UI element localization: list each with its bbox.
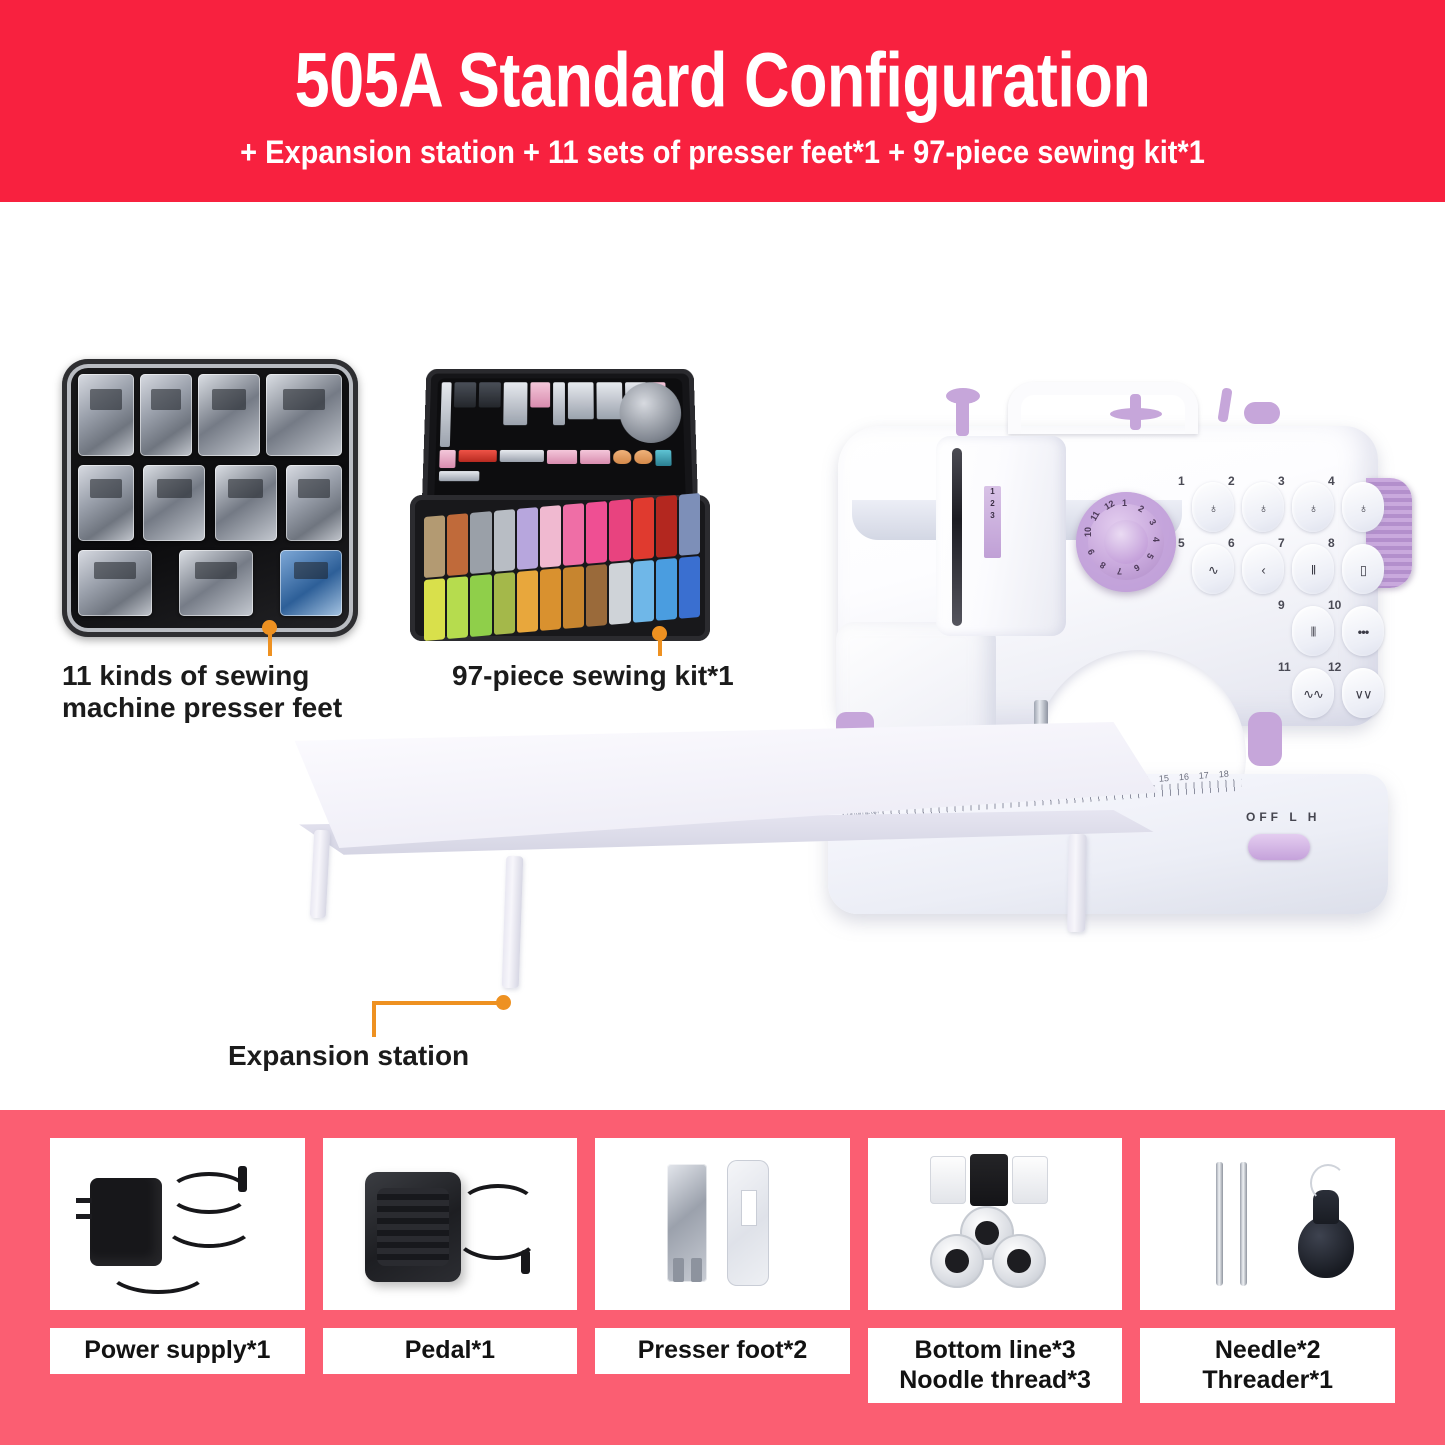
dial-number: 12 — [1103, 498, 1117, 512]
page-subtitle: + Expansion station + 11 sets of presser… — [240, 137, 1205, 169]
thread-spool-column — [679, 493, 700, 619]
stitch-number: 10 — [1328, 598, 1341, 612]
dial-number: 1 — [1122, 498, 1127, 508]
callout-line-expansion-v — [372, 1001, 376, 1037]
stitch-number: 9 — [1278, 598, 1285, 612]
presser-foot-item — [78, 550, 152, 616]
stitch-button[interactable]: ▯ — [1342, 544, 1384, 594]
stitch-number: 1 — [1178, 474, 1185, 488]
kit-tool — [500, 450, 544, 462]
callout-line-expansion-h — [372, 1001, 500, 1005]
thread-spool — [517, 507, 538, 570]
expansion-station-leg-left — [310, 830, 331, 919]
kit-tool — [503, 382, 527, 425]
ruler-number: 16 — [1179, 772, 1190, 783]
ruler-number: 17 — [1198, 770, 1209, 781]
bobbin-hub — [945, 1249, 969, 1273]
sewing-kit-base — [410, 495, 710, 641]
presser-foot-item — [78, 374, 134, 456]
stitch-number: 4 — [1328, 474, 1335, 488]
thread-spool — [517, 570, 538, 633]
bobbin-thread-icon — [868, 1138, 1123, 1310]
presser-feet-row — [78, 550, 342, 616]
thread-spool — [586, 564, 607, 627]
stitch-button[interactable]: ♁ — [1292, 482, 1334, 532]
tension-scale-num: 3 — [984, 510, 1001, 522]
thread-spool — [633, 560, 654, 623]
kit-tool — [440, 382, 452, 447]
accessory-label: Presser foot*2 — [595, 1328, 850, 1374]
thread-spool-column — [517, 507, 538, 633]
stitch-button[interactable]: ‹ — [1242, 544, 1284, 594]
stitch-button[interactable]: ••• — [1342, 606, 1384, 656]
stitch-button[interactable]: ∿ — [1192, 544, 1234, 594]
stitch-button[interactable]: ∨∨ — [1342, 668, 1384, 718]
expansion-station-leg-right — [1067, 834, 1087, 932]
thread-spool — [609, 499, 630, 562]
kit-tool — [454, 382, 476, 407]
stitch-glyph: ∿ — [1208, 564, 1218, 577]
stitch-glyph: ♁ — [1209, 502, 1218, 515]
stitch-glyph: ∨∨ — [1354, 688, 1371, 701]
dial-number: 10 — [1083, 527, 1093, 537]
kit-tool — [553, 382, 565, 425]
kit-tool — [634, 450, 652, 464]
needle-threader-icon — [1140, 1138, 1395, 1310]
expansion-station — [268, 722, 1158, 922]
pedal-body — [365, 1172, 461, 1282]
thread-spool-column — [633, 497, 654, 623]
stitch-glyph: ♁ — [1359, 502, 1368, 515]
bobbin — [930, 1234, 984, 1288]
accessory-tile-power-supply[interactable]: Power supply*1 — [50, 1138, 305, 1445]
page-title: 505A Standard Configuration — [295, 43, 1151, 120]
stitch-button[interactable]: ♁ — [1342, 482, 1384, 532]
threader-wire-loop — [1310, 1164, 1346, 1202]
stitch-number: 11 — [1278, 660, 1291, 674]
kit-tool — [580, 450, 610, 464]
foot-pedal-icon — [323, 1138, 578, 1310]
thread-spool — [679, 493, 700, 556]
tension-housing: 1 2 3 — [936, 436, 1066, 636]
accessory-label: Pedal*1 — [323, 1328, 578, 1374]
stitch-glyph: ♁ — [1309, 502, 1318, 515]
thread-spool-column — [447, 513, 468, 639]
presser-foot-item — [215, 465, 277, 541]
accessory-label: Power supply*1 — [50, 1328, 305, 1374]
accessory-tile-bobbin-thread[interactable]: Bottom line*3 Noodle thread*3 — [868, 1138, 1123, 1445]
dial-number: 11 — [1088, 509, 1101, 522]
accessory-tile-pedal[interactable]: Pedal*1 — [323, 1138, 578, 1445]
thread-spool-rows — [424, 493, 700, 641]
thread-guide-slot — [952, 448, 962, 626]
thread-spool — [656, 558, 677, 621]
presser-feet-grid — [78, 374, 342, 622]
accessory-tile-presser-foot[interactable]: Presser foot*2 — [595, 1138, 850, 1445]
dial-number: 2 — [1137, 503, 1146, 514]
bobbin-hub — [1007, 1249, 1031, 1273]
stitch-button[interactable]: ⦀ — [1292, 606, 1334, 656]
presser-feet-row — [78, 465, 342, 541]
kit-tool — [458, 450, 496, 462]
kit-tool — [547, 450, 577, 464]
presser-feet-row — [78, 374, 342, 456]
presser-foot-item — [179, 550, 253, 616]
stitch-button[interactable]: ♁ — [1242, 482, 1284, 532]
thread-spool-column — [540, 505, 561, 631]
caption-expansion-station: Expansion station — [228, 1040, 469, 1072]
presser-foot-icon — [595, 1138, 850, 1310]
thread-spool-white — [930, 1156, 966, 1204]
power-adapter-icon — [50, 1138, 305, 1310]
kit-tool — [439, 471, 480, 481]
accessory-label: Needle*2 Threader*1 — [1140, 1328, 1395, 1403]
product-infographic: 505A Standard Configuration + Expansion … — [0, 0, 1445, 1445]
presser-foot-item — [280, 550, 342, 616]
stitch-selection-chart: 1♁2♁3♁4♁5∿6‹7‖8▯9⦀10•••11∿∿12∨∨ — [1180, 478, 1380, 698]
stitch-glyph: ∿∿ — [1303, 688, 1323, 701]
thread-spool — [494, 509, 515, 572]
adapter-cord — [106, 1244, 210, 1294]
thread-spool-white — [1012, 1156, 1048, 1204]
stitch-pattern-dial[interactable]: 123456789101112 — [1076, 492, 1176, 592]
presser-foot-item — [266, 374, 342, 456]
adapter-cord — [162, 1196, 256, 1248]
stitch-button[interactable]: ♁ — [1192, 482, 1234, 532]
kit-tool — [568, 382, 594, 419]
thread-spool — [470, 511, 491, 574]
thread-spool — [424, 578, 445, 641]
thread-spool — [540, 568, 561, 631]
dial-number: 6 — [1132, 562, 1141, 573]
bobbin — [992, 1234, 1046, 1288]
thread-spool-column — [586, 501, 607, 627]
thread-spool-column — [656, 495, 677, 621]
stitch-number: 7 — [1278, 536, 1285, 550]
bobbin-winder-pin[interactable] — [1217, 387, 1232, 422]
metal-foot-toe — [673, 1258, 684, 1282]
dial-number: 7 — [1117, 566, 1122, 576]
kit-tool — [439, 450, 456, 468]
sewing-needle — [1240, 1162, 1247, 1286]
product-stage: 11 kinds of sewing machine presser feet — [0, 202, 1445, 1110]
bobbin-hub — [975, 1221, 999, 1245]
pedal-ridges — [377, 1188, 449, 1266]
accessory-tile-needle-threader[interactable]: Needle*2 Threader*1 — [1140, 1138, 1395, 1445]
stitch-glyph: ‖ — [1311, 564, 1315, 577]
tension-scale-num: 1 — [984, 486, 1001, 498]
dial-number: 4 — [1151, 537, 1161, 542]
thread-spool — [656, 495, 677, 558]
stitch-glyph: ▯ — [1360, 564, 1366, 577]
presser-foot-item — [78, 465, 134, 541]
thread-spool — [447, 513, 468, 576]
thread-spool — [563, 503, 584, 566]
stitch-button[interactable]: ‖ — [1292, 544, 1334, 594]
thread-spool — [424, 515, 445, 578]
stitch-number: 5 — [1178, 536, 1185, 550]
stitch-glyph: ⦀ — [1311, 626, 1316, 639]
threader-body — [1298, 1216, 1354, 1278]
presser-foot-item — [140, 374, 192, 456]
carry-handle[interactable] — [1008, 382, 1198, 434]
reverse-lever[interactable] — [1248, 712, 1282, 766]
presser-foot-item — [143, 465, 205, 541]
stitch-glyph: ♁ — [1259, 502, 1268, 515]
thread-spool — [609, 562, 630, 625]
thread-spool — [586, 501, 607, 564]
kit-tool — [613, 450, 631, 464]
thread-spool — [679, 556, 700, 619]
stitch-number: 8 — [1328, 536, 1335, 550]
presser-feet-tray — [62, 359, 358, 637]
thread-spool-column — [494, 509, 515, 635]
accessories-panel: Power supply*1 Pedal*1 — [0, 1110, 1445, 1445]
accessory-label: Bottom line*3 Noodle thread*3 — [868, 1328, 1123, 1403]
sewing-needle — [1216, 1162, 1223, 1286]
dial-number: 8 — [1098, 560, 1107, 571]
kit-tool — [479, 382, 501, 407]
caption-presser-feet: 11 kinds of sewing machine presser feet — [62, 660, 342, 725]
ruler-number: 18 — [1218, 769, 1229, 780]
presser-foot-item — [198, 374, 260, 456]
presser-foot-item — [286, 465, 342, 541]
dial-knob[interactable] — [1104, 520, 1148, 564]
buttonhole-slot — [741, 1190, 757, 1226]
thread-spool — [470, 574, 491, 637]
callout-line-sewing-kit — [658, 634, 662, 656]
spool-disc-center[interactable] — [1110, 408, 1162, 420]
dial-number: 5 — [1145, 552, 1156, 561]
stitch-button[interactable]: ∿∿ — [1292, 668, 1334, 718]
spool-pin-cap-left[interactable] — [946, 388, 980, 404]
thread-spool-column — [563, 503, 584, 629]
expansion-station-leg-center — [502, 856, 524, 989]
dial-number: 3 — [1147, 518, 1158, 527]
thread-spool — [447, 576, 468, 639]
thread-spool-black — [970, 1154, 1008, 1206]
stitch-number: 6 — [1228, 536, 1235, 550]
stitch-glyph: ••• — [1358, 626, 1369, 639]
kit-tool — [530, 382, 550, 407]
caption-sewing-kit: 97-piece sewing kit*1 — [452, 660, 734, 692]
sewing-kit-case — [410, 367, 710, 642]
tension-scale-num: 2 — [984, 498, 1001, 510]
stitch-glyph: ‹ — [1261, 564, 1264, 577]
ruler-number: 15 — [1159, 773, 1170, 784]
caption-presser-feet-line1: 11 kinds of sewing — [62, 660, 342, 692]
dial-number: 9 — [1086, 547, 1097, 556]
speed-switch-label: OFF L H — [1246, 810, 1320, 824]
adapter-dc-plug — [238, 1166, 247, 1192]
thread-spool — [540, 505, 561, 568]
stitch-number: 3 — [1278, 474, 1285, 488]
stitch-number: 12 — [1328, 660, 1341, 674]
caption-presser-feet-line2: machine presser feet — [62, 692, 342, 724]
accessories-grid: Power supply*1 Pedal*1 — [0, 1110, 1445, 1445]
stitch-number: 2 — [1228, 474, 1235, 488]
thread-spool-column — [424, 515, 445, 641]
tension-scale: 1 2 3 — [984, 486, 1001, 558]
thread-spool — [563, 566, 584, 629]
metal-foot-toe — [691, 1258, 702, 1282]
header-banner: 505A Standard Configuration + Expansion … — [0, 0, 1445, 202]
kit-tool — [655, 450, 671, 466]
bobbin-winder-stop[interactable] — [1244, 402, 1280, 424]
thread-spool-column — [609, 499, 630, 625]
pedal-plug — [521, 1250, 530, 1274]
speed-switch[interactable] — [1248, 834, 1310, 860]
needle-case-icon — [619, 382, 682, 443]
thread-spool — [633, 497, 654, 560]
thread-spool — [494, 572, 515, 635]
callout-line-presser-feet — [268, 628, 272, 656]
thread-spool-column — [470, 511, 491, 637]
